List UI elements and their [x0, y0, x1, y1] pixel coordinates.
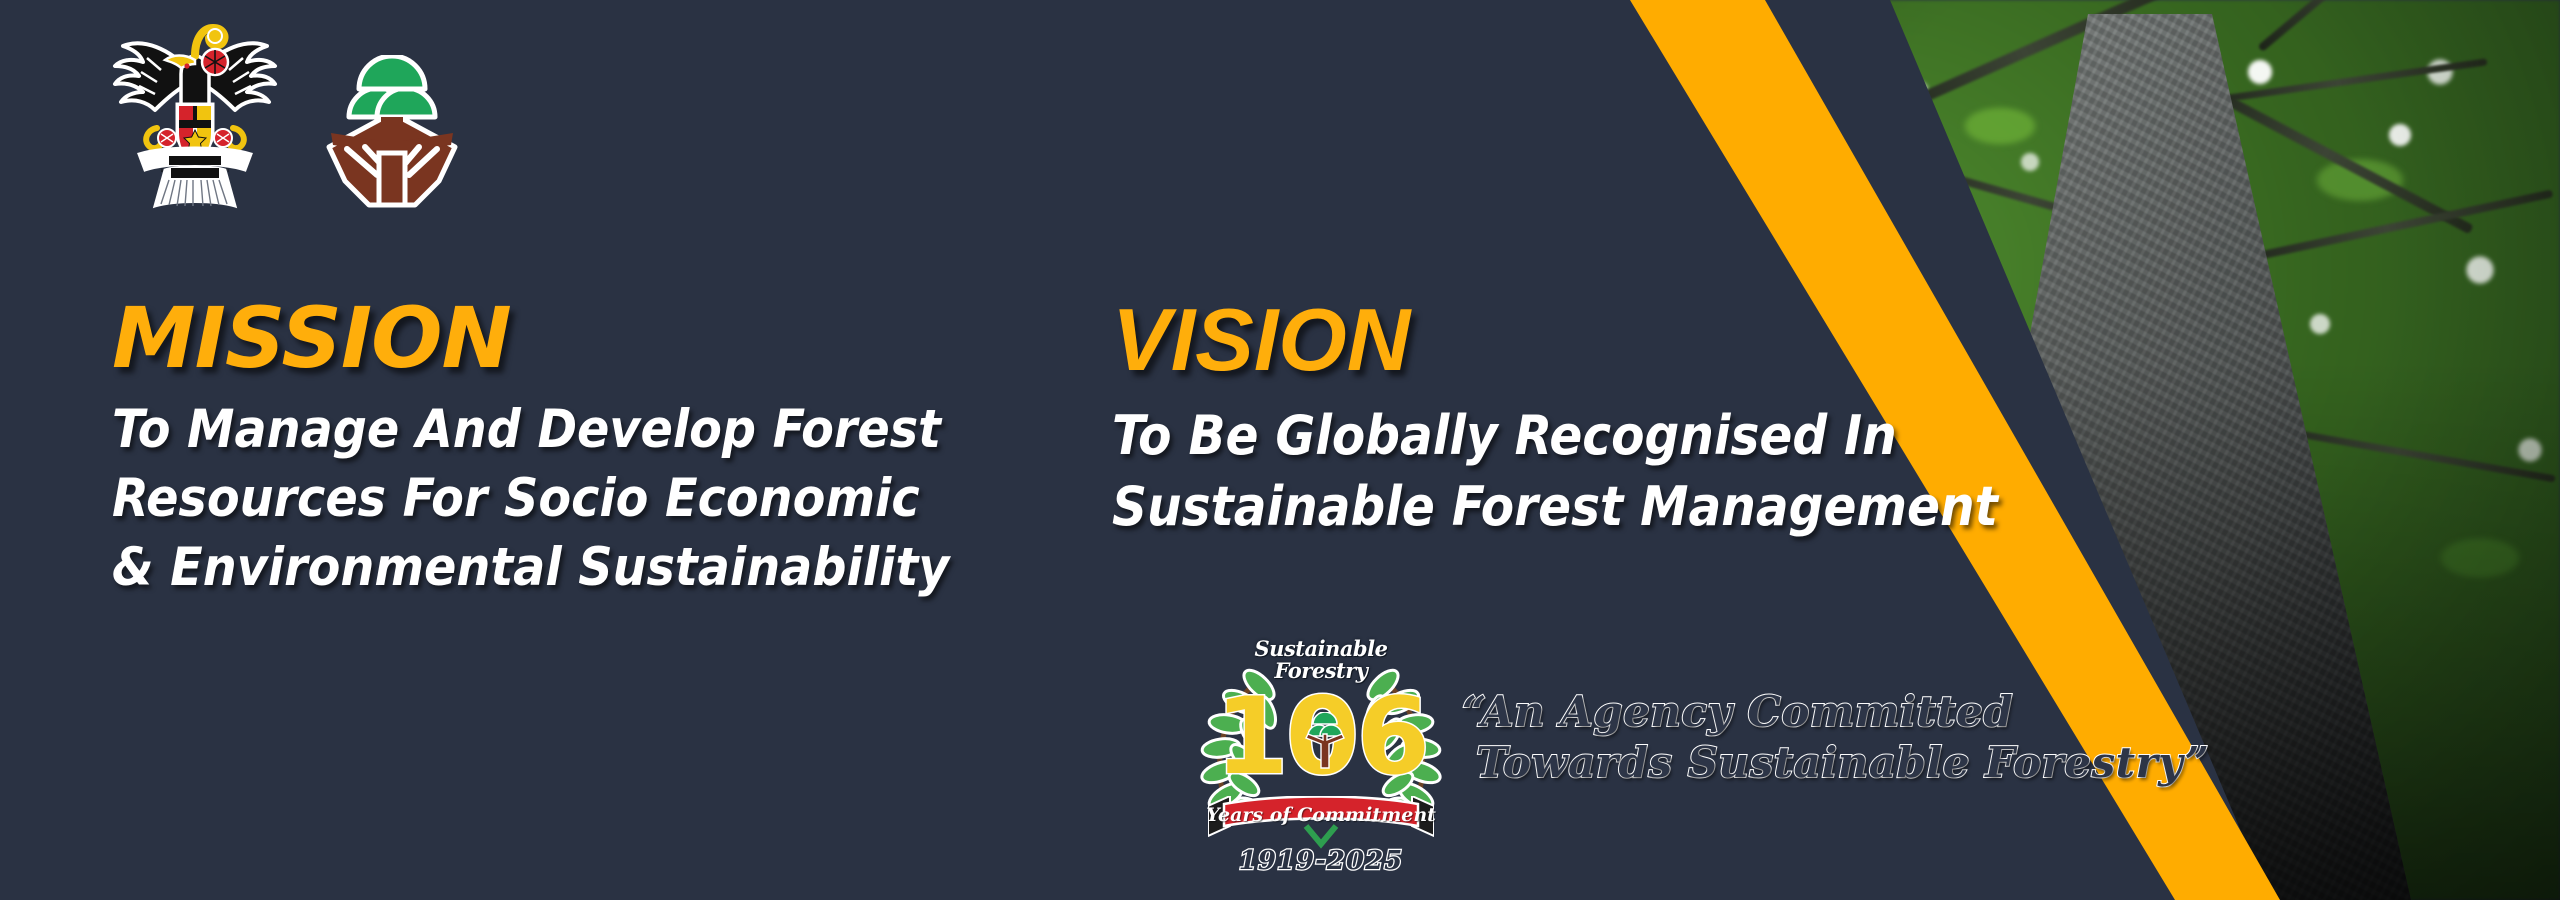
vision-block: VISION To Be Globally Recognised In Sust… [1112, 296, 2032, 543]
mission-line-2: Resources For Socio Economic [112, 465, 872, 534]
tagline-line-1: “An Agency Committed [1462, 686, 2102, 737]
logo-row: BERSATU BERUSAHA BERBAKTI [95, 10, 467, 210]
mission-title: MISSION [112, 296, 872, 380]
badge-title-line-1: Sustainable [1196, 638, 1446, 660]
forest-department-tree-icon [317, 55, 467, 210]
tagline: “An Agency Committed Towards Sustainable… [1462, 686, 2102, 788]
mission-line-3: & Environmental Sustainability [112, 534, 872, 603]
vision-title: VISION [1112, 296, 2032, 384]
mission-vision-banner: BERSATU BERUSAHA BERBAKTI [0, 0, 2560, 900]
anniversary-badge: Sustainable Forestry 106 Years of Commit… [1196, 638, 1446, 888]
vision-body: To Be Globally Recognised In Sustainable… [1112, 400, 2032, 543]
badge-title-line-2: Forestry [1196, 660, 1446, 682]
mission-line-1: To Manage And Develop Forest [112, 396, 872, 465]
tagline-line-2: Towards Sustainable Forestry” [1462, 737, 2102, 788]
mission-body: To Manage And Develop Forest Resources F… [112, 396, 872, 603]
mission-block: MISSION To Manage And Develop Forest Res… [112, 296, 872, 603]
vision-line-1: To Be Globally Recognised In [1112, 400, 2032, 471]
badge-years: 1919-2025 [1196, 846, 1446, 876]
ribbon-text: Years of Commitment [1196, 804, 1446, 826]
badge-inner-tree-icon [1302, 712, 1348, 770]
vision-line-2: Sustainable Forest Management [1112, 471, 2032, 542]
sarawak-crest-icon: BERSATU BERUSAHA BERBAKTI [95, 10, 295, 210]
badge-title: Sustainable Forestry [1196, 638, 1446, 682]
